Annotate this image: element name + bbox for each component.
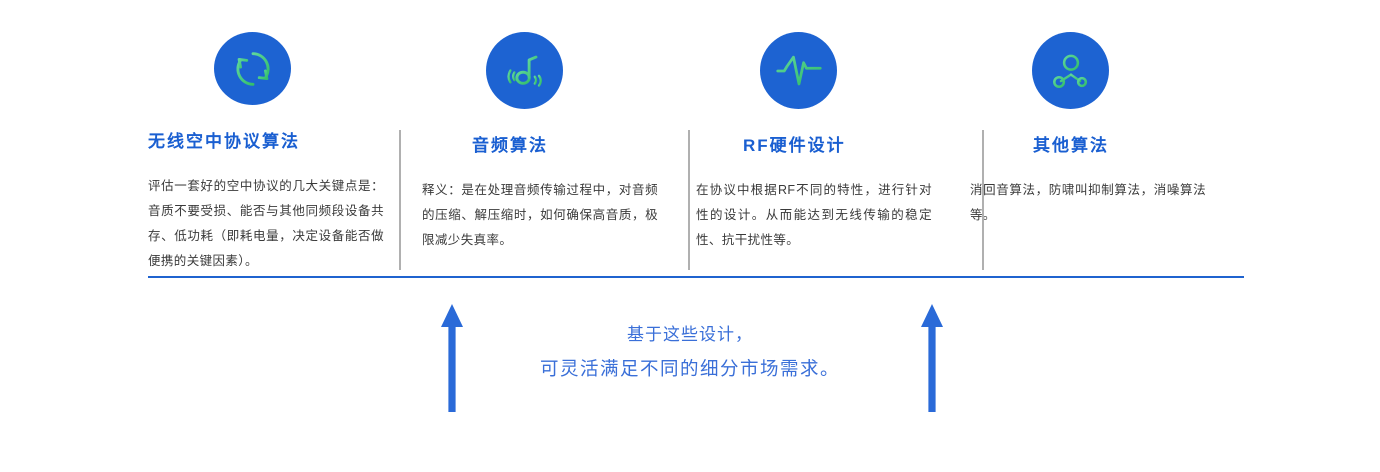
card-body: 在协议中根据RF不同的特性，进行针对性的设计。从而能达到无线传输的稳定性、抗干扰… [696,178,932,253]
up-arrow-left-icon [440,303,464,413]
horizontal-rule [148,276,1244,278]
column-divider-2 [688,130,690,270]
footer-note: 基于这些设计， 可灵活满足不同的细分市场需求。 [480,318,900,386]
footer-note-line-2: 可灵活满足不同的细分市场需求。 [480,352,900,386]
card-title: 其他算法 [1033,134,1109,158]
feature-card-wireless-protocol[interactable]: 无线空中协议算法 评估一套好的空中协议的几大关键点是：音质不要受损、能否与其他同… [148,24,422,274]
pulse-waveform-icon [760,32,837,109]
refresh-sync-icon [214,32,291,105]
footer-note-line-1: 基于这些设计， [480,318,900,352]
card-body: 释义：是在处理音频传输过程中，对音频的压缩、解压缩时，如何确保高音质，极限减少失… [422,178,658,253]
feature-card-other-algorithms[interactable]: 其他算法 消回音算法，防啸叫抑制算法，消噪算法等。 [970,24,1244,274]
up-arrow-right-icon [920,303,944,413]
feature-card-rf-hardware[interactable]: RF硬件设计 在协议中根据RF不同的特性，进行针对性的设计。从而能达到无线传输的… [696,24,970,274]
card-title: 音频算法 [472,134,548,158]
music-note-waves-icon [486,32,563,109]
node-network-icon [1032,32,1109,109]
card-title: 无线空中协议算法 [148,130,300,154]
column-divider-1 [399,130,401,270]
infographic-root: 无线空中协议算法 评估一套好的空中协议的几大关键点是：音质不要受损、能否与其他同… [0,0,1380,472]
feature-columns: 无线空中协议算法 评估一套好的空中协议的几大关键点是：音质不要受损、能否与其他同… [148,24,1244,274]
feature-card-audio-algorithm[interactable]: 音频算法 释义：是在处理音频传输过程中，对音频的压缩、解压缩时，如何确保高音质，… [422,24,696,274]
card-body: 评估一套好的空中协议的几大关键点是：音质不要受损、能否与其他同频段设备共存、低功… [148,174,384,274]
card-title: RF硬件设计 [743,134,846,158]
card-body: 消回音算法，防啸叫抑制算法，消噪算法等。 [970,178,1206,228]
column-divider-3 [982,130,984,270]
